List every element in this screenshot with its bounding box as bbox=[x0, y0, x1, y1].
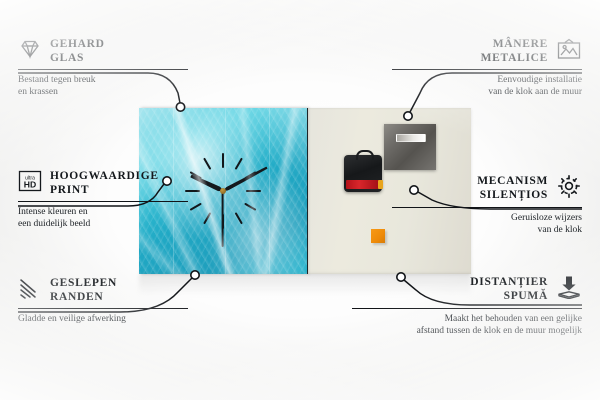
callout-title: DISTANȚIERSPUMĂ bbox=[470, 276, 548, 303]
callout-title: MÂNEREMETALICE bbox=[481, 38, 548, 65]
callout-desc: Gladde en veilige afwerking bbox=[18, 313, 208, 325]
callout-gehard-glas: GEHARDGLAS Bestand tegen breuken krassen bbox=[18, 38, 198, 99]
product-infographic: GEHARDGLAS Bestand tegen breuken krassen… bbox=[0, 0, 600, 400]
callout-title: GESLEPENRANDEN bbox=[50, 277, 117, 304]
callout-geslepen-randen: GESLEPENRANDEN Gladde en veilige afwerki… bbox=[18, 277, 208, 325]
callout-hoogwaardige-print: ultra HD HOOGWAARDIGEPRINT Intense kleur… bbox=[18, 170, 208, 231]
callout-title: MECANISMSILENȚIOS bbox=[477, 175, 548, 202]
callout-title: HOOGWAARDIGEPRINT bbox=[50, 170, 159, 197]
callout-desc: Intense kleuren eneen duidelijk beeld bbox=[18, 206, 208, 231]
callout-distantier-spuma: DISTANȚIERSPUMĂ Maakt het behouden van e… bbox=[352, 275, 582, 338]
beveled-edges-icon bbox=[18, 277, 42, 304]
callout-mecanism-silentios: MECANISMSILENȚIOS Geruisloze wijzersvan … bbox=[392, 174, 582, 237]
callout-desc: Eenvoudige installatievan de klok aan de… bbox=[392, 74, 582, 99]
callout-desc: Bestand tegen breuken krassen bbox=[18, 74, 198, 99]
svg-text:HD: HD bbox=[24, 180, 36, 190]
callout-title: GEHARDGLAS bbox=[50, 38, 105, 65]
callout-desc: Maakt het behouden van een gelijkeafstan… bbox=[352, 313, 582, 338]
spacer-arrow-icon bbox=[556, 275, 582, 304]
ultra-hd-icon: ultra HD bbox=[18, 170, 42, 197]
callout-desc: Geruisloze wijzersvan de klok bbox=[392, 212, 582, 237]
gear-icon bbox=[556, 174, 582, 203]
diamond-icon bbox=[18, 39, 42, 64]
callout-manere-metalice: MÂNEREMETALICE Eenvoudige installatievan… bbox=[392, 38, 582, 99]
wall-mount-frame-icon bbox=[556, 38, 582, 65]
